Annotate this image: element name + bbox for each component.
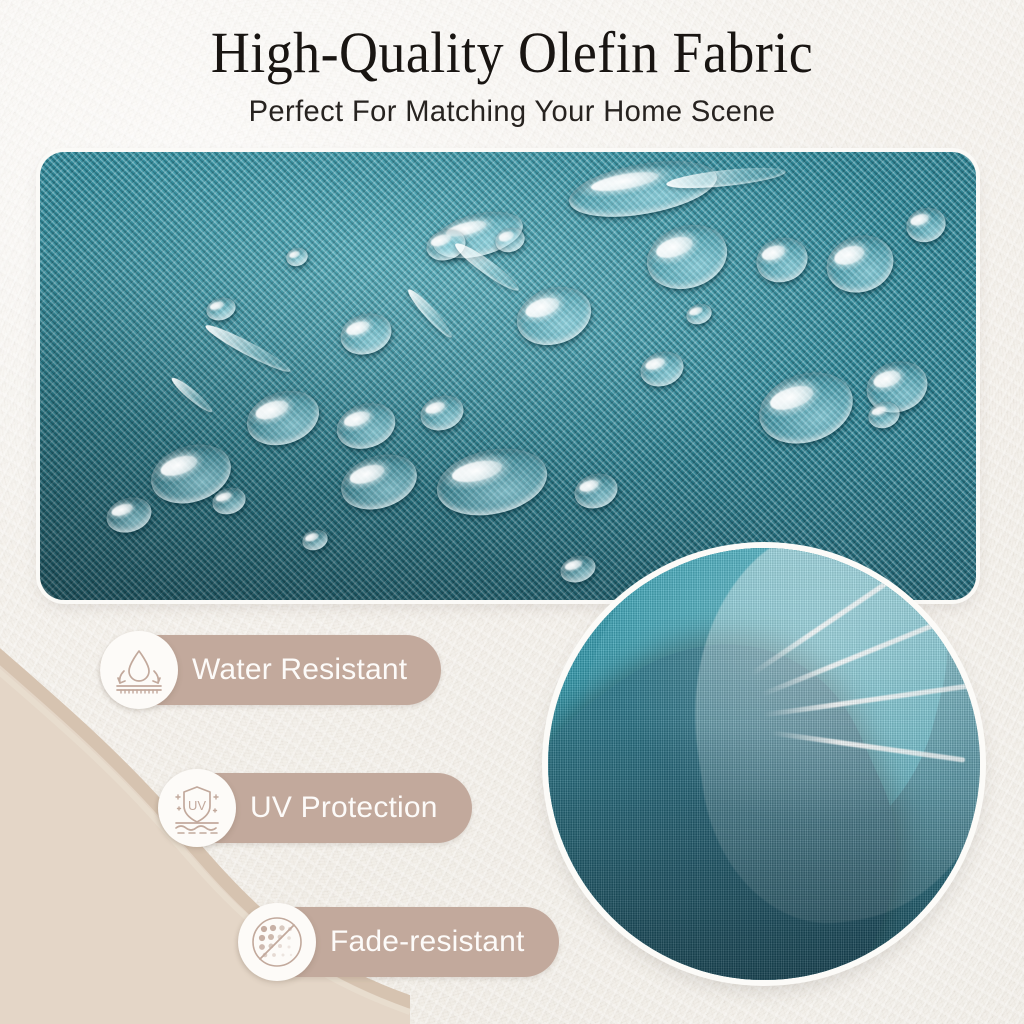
feature-water-resistant[interactable]: Water Resistant (100, 631, 441, 709)
feature-label: Water Resistant (192, 653, 407, 687)
feature-fade-resistant[interactable]: Fade-resistant (238, 903, 559, 981)
hero-fabric-image (40, 152, 976, 600)
uv-shield-icon: UV (158, 769, 236, 847)
feature-label: UV Protection (250, 791, 438, 825)
fading-dots-slash-icon (238, 903, 316, 981)
fabric-inset-shading (548, 548, 980, 980)
infographic-canvas: High-Quality Olefin Fabric Perfect For M… (0, 0, 1024, 1024)
fabric-fold-inset-image (548, 548, 980, 980)
page-subtitle: Perfect For Matching Your Home Scene (15, 95, 1008, 129)
feature-label: Fade-resistant (330, 925, 525, 959)
heading-block: High-Quality Olefin Fabric Perfect For M… (0, 22, 1024, 129)
page-title: High-Quality Olefin Fabric (36, 22, 988, 83)
svg-text:UV: UV (188, 798, 206, 813)
water-droplet-repel-icon (100, 631, 178, 709)
feature-uv-protection[interactable]: UV Protection UV (158, 769, 472, 847)
